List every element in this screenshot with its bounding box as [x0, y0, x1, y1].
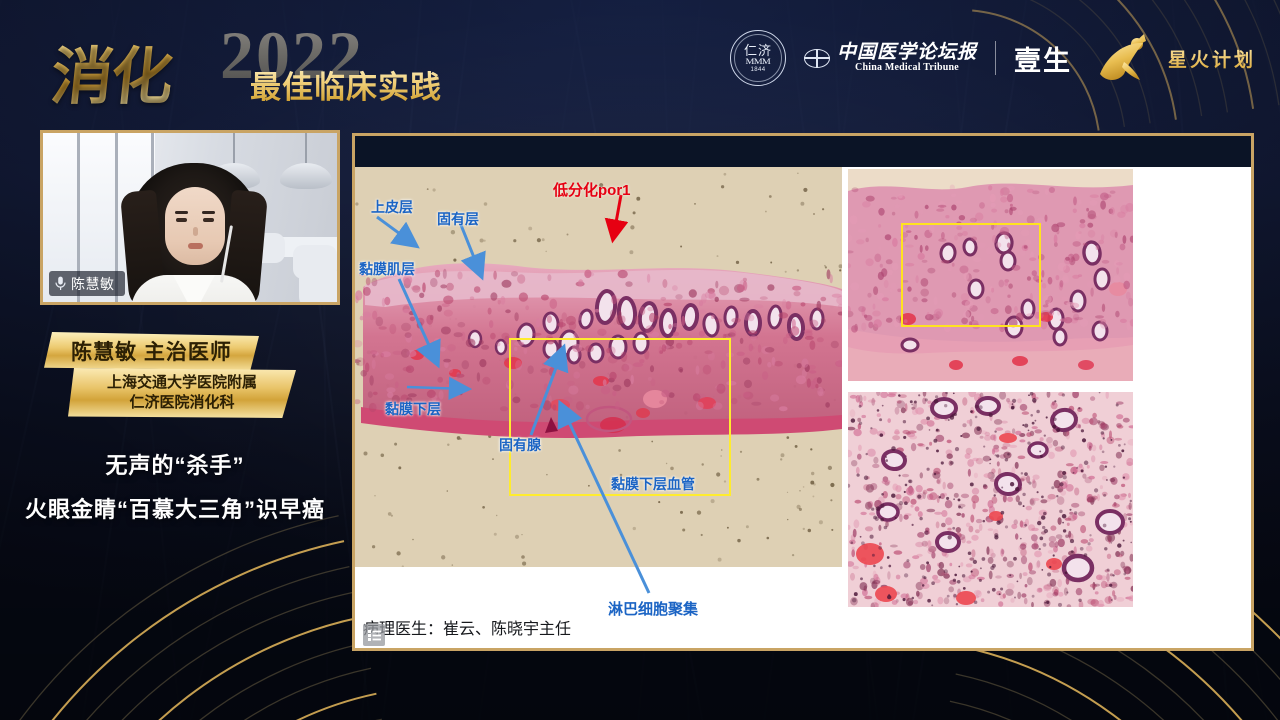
tissue-blob	[1099, 444, 1102, 450]
tissue-blob	[974, 473, 978, 479]
chair	[299, 269, 340, 305]
tissue-blob	[1100, 200, 1106, 209]
tissue-blob	[1032, 480, 1037, 488]
participant-video-tile[interactable]: 陈慧敏	[40, 130, 340, 305]
tissue-blob	[1027, 577, 1033, 585]
region-of-interest-box-upper-right	[901, 223, 1041, 327]
tissue-blob	[861, 415, 866, 418]
nucleus	[1073, 472, 1075, 474]
tissue-blob	[940, 493, 945, 499]
nucleus	[870, 427, 872, 429]
tissue-blob	[858, 445, 862, 451]
tissue-blob	[1065, 257, 1070, 261]
gland-structure	[995, 473, 1021, 495]
tissue-blob	[1054, 480, 1061, 488]
tissue-blob	[917, 443, 923, 446]
tissue-blob	[1005, 209, 1009, 213]
nucleus	[1087, 542, 1090, 545]
tissue-blob	[1091, 455, 1095, 462]
nucleus	[1130, 542, 1132, 544]
tissue-blob	[1033, 475, 1040, 480]
nucleus	[1046, 416, 1048, 418]
nucleus	[1032, 595, 1035, 598]
nucleus	[931, 604, 933, 606]
tissue-blob	[850, 282, 859, 290]
nucleus	[973, 560, 977, 564]
tissue-blob	[878, 525, 881, 531]
gland-structure	[1029, 443, 1047, 457]
nucleus	[946, 497, 949, 500]
tissue-blob	[1117, 425, 1123, 429]
tissue-blob	[1078, 199, 1082, 204]
nucleus	[877, 409, 880, 412]
tissue-blob	[1018, 546, 1021, 551]
nucleus	[951, 414, 954, 417]
tissue-blob	[1036, 562, 1040, 569]
nucleus	[1027, 441, 1030, 444]
tissue-blob	[1125, 577, 1131, 580]
tissue-blob	[1088, 210, 1096, 219]
tissue-blob	[1021, 593, 1026, 597]
tissue-blob	[899, 514, 903, 522]
tissue-blob	[1058, 263, 1067, 271]
tissue-blob	[1060, 280, 1064, 287]
nucleus	[924, 530, 929, 535]
tissue-blob	[1129, 502, 1132, 510]
tissue-blob	[987, 519, 992, 524]
tissue-blob	[976, 458, 983, 465]
tissue-blob	[892, 263, 899, 271]
nucleus	[1024, 472, 1028, 476]
nucleus	[927, 599, 931, 603]
nucleus	[989, 413, 993, 417]
tissue-blob	[861, 323, 866, 331]
nucleus	[875, 517, 879, 521]
tissue-blob	[951, 205, 956, 211]
tissue-blob	[1053, 592, 1059, 597]
tissue-blob	[959, 215, 965, 220]
tissue-blob	[1020, 404, 1028, 411]
nucleus	[905, 484, 908, 487]
tissue-blob	[890, 545, 898, 548]
tissue-blob	[927, 401, 931, 404]
tissue-blob	[995, 575, 1002, 578]
tissue-blob	[993, 434, 996, 441]
tissue-blob	[969, 557, 974, 560]
face	[165, 187, 225, 265]
event-title-main: 消化	[47, 26, 176, 116]
tissue-blob	[1003, 452, 1011, 459]
participant-name-text: 陈慧敏	[71, 274, 115, 294]
nucleus	[1084, 461, 1089, 466]
nucleus	[1036, 410, 1040, 414]
nucleus	[994, 430, 996, 432]
nucleus	[1028, 430, 1030, 432]
tissue-blob	[873, 571, 877, 579]
tissue-blob	[1120, 244, 1126, 251]
nucleus	[1063, 529, 1066, 532]
tissue-blob	[1116, 267, 1119, 274]
nucleus	[936, 429, 939, 432]
nucleus	[899, 475, 901, 477]
tissue-blob	[852, 547, 855, 551]
tissue-blob	[950, 185, 955, 191]
nucleus	[1046, 601, 1049, 604]
tissue-blob	[1057, 496, 1065, 505]
tissue-blob	[886, 318, 893, 323]
tissue-blob	[866, 238, 869, 243]
tissue-blob	[1120, 562, 1125, 568]
nucleus	[1001, 487, 1003, 489]
tissue-blob	[1088, 476, 1095, 480]
tissue-blob	[941, 510, 947, 517]
tissue-blob	[1108, 596, 1111, 603]
tissue-blob	[915, 211, 919, 219]
nucleus	[904, 491, 906, 493]
blood-vessel	[956, 591, 976, 605]
tissue-blob	[1116, 262, 1123, 265]
tissue-blob	[851, 460, 857, 466]
tissue-blob	[969, 526, 974, 533]
nucleus	[880, 433, 884, 437]
tissue-blob	[855, 500, 862, 504]
tissue-blob	[1053, 440, 1058, 447]
lamp-cord	[305, 133, 307, 165]
nucleus	[882, 405, 884, 407]
blood-vessel	[875, 586, 897, 602]
tissue-blob	[1015, 533, 1018, 539]
tissue-blob	[1065, 535, 1069, 538]
tissue-blob	[1028, 562, 1033, 571]
nucleus	[887, 556, 890, 559]
tissue-blob	[1026, 432, 1031, 437]
nucleus	[1037, 491, 1039, 493]
tissue-blob	[863, 396, 866, 401]
tissue-blob	[1031, 534, 1038, 541]
tissue-blob	[878, 247, 881, 251]
nucleus	[996, 454, 999, 457]
nucleus	[1062, 514, 1067, 519]
tissue-blob	[1016, 495, 1020, 502]
tissue-blob	[997, 461, 1000, 466]
annotation-submucosal-vessel: 黏膜下层血管	[611, 474, 695, 494]
nucleus	[870, 535, 874, 539]
nucleus	[954, 574, 957, 577]
nucleus	[992, 588, 996, 592]
tissue-blob	[994, 419, 1002, 425]
tissue-blob	[850, 409, 856, 417]
nucleus	[1116, 404, 1119, 407]
affiliation-line-1: 上海交通大学医院附属	[107, 373, 257, 393]
nucleus	[906, 559, 909, 562]
nucleus	[992, 564, 996, 568]
tissue-blob	[1033, 498, 1040, 501]
nucleus	[1071, 550, 1074, 553]
nucleus	[1109, 584, 1112, 587]
tissue-blob	[865, 315, 873, 321]
nucleus	[1123, 573, 1126, 576]
gland-structure	[882, 450, 906, 471]
participant-name-badge: 陈慧敏	[49, 271, 125, 296]
nucleus	[1130, 521, 1132, 523]
tissue-blob	[911, 443, 916, 451]
nucleus	[919, 517, 922, 520]
nucleus	[1111, 599, 1113, 601]
tissue-blob	[1121, 484, 1125, 487]
nucleus	[980, 567, 982, 569]
nucleus	[1094, 488, 1098, 492]
tissue-blob	[988, 185, 992, 190]
tissue-blob	[1049, 541, 1055, 547]
tissue-blob	[991, 209, 997, 213]
tissue-blob	[1064, 317, 1073, 323]
mouth	[188, 243, 203, 249]
tissue-blob	[894, 550, 903, 554]
nucleus	[888, 565, 891, 568]
nucleus	[1054, 400, 1056, 402]
tissue-blob	[902, 474, 909, 477]
slide-canvas: 上皮层 固有层 黏膜肌层 黏膜下层 固有腺 低分化por1 黏膜下层血管 淋巴细…	[355, 136, 1251, 648]
tissue-blob	[1102, 260, 1110, 264]
tissue-blob	[1086, 208, 1089, 212]
tissue-blob	[1061, 296, 1068, 300]
tissue-blob	[1110, 191, 1116, 194]
tissue-blob	[1049, 187, 1055, 193]
tissue-blob	[1087, 599, 1095, 605]
nucleus	[1105, 465, 1107, 467]
nucleus	[904, 501, 908, 505]
nucleus	[944, 404, 947, 407]
blood-vessel	[1046, 558, 1062, 570]
nucleus	[1043, 543, 1047, 547]
nucleus	[993, 494, 995, 496]
gland-structure	[1097, 511, 1123, 533]
tissue-blob	[939, 562, 945, 569]
list-menu-icon[interactable]	[363, 624, 385, 646]
tissue-blob	[1115, 311, 1119, 318]
tissue-blob	[1086, 546, 1093, 552]
nucleus	[904, 573, 908, 577]
tissue-blob	[1099, 319, 1106, 325]
tissue-blob	[887, 393, 895, 397]
tissue-blob	[938, 205, 947, 208]
tissue-blob	[856, 467, 860, 474]
annotation-lymphocyte-aggregation: 淋巴细胞聚集	[608, 598, 698, 619]
annotation-muscularis-mucosae: 黏膜肌层	[359, 259, 415, 279]
tissue-blob	[1106, 573, 1109, 582]
tissue-blob	[1123, 273, 1130, 282]
speaker-affiliation-badge: 上海交通大学医院附属 仁济医院消化科	[68, 368, 296, 418]
tissue-blob	[947, 453, 953, 459]
tissue-blob	[932, 471, 940, 479]
tissue-blob	[1089, 419, 1093, 425]
tissue-blob	[1081, 539, 1089, 544]
tissue-blob	[894, 431, 900, 435]
tissue-blob	[989, 571, 993, 580]
nucleus	[947, 595, 950, 598]
tissue-blob	[1027, 189, 1034, 193]
tissue-blob	[953, 217, 957, 220]
nose	[193, 227, 198, 236]
nucleus	[1021, 472, 1023, 474]
nucleus	[1013, 557, 1017, 561]
tissue-blob	[915, 506, 920, 511]
tissue-blob	[1057, 308, 1060, 316]
nucleus	[895, 517, 897, 519]
tissue-blob	[967, 459, 974, 467]
tissue-blob	[983, 456, 991, 462]
histology-image-lower-right	[846, 390, 1135, 609]
blood-vessel	[949, 360, 963, 370]
tissue-blob	[949, 563, 952, 567]
nucleus	[1053, 554, 1055, 556]
tissue-blob	[1009, 445, 1017, 448]
microphone-icon	[55, 276, 66, 291]
nucleus	[1082, 438, 1086, 442]
tissue-blob	[1114, 595, 1117, 600]
nucleus	[1078, 407, 1080, 409]
nucleus	[1118, 444, 1121, 447]
tissue-blob	[1047, 497, 1052, 501]
tissue-blob	[922, 541, 928, 547]
nucleus	[1038, 548, 1040, 550]
tissue-blob	[1049, 536, 1057, 542]
tissue-blob	[869, 512, 875, 515]
nucleus	[1014, 597, 1016, 599]
nucleus	[851, 541, 854, 544]
tissue-blob	[966, 563, 973, 567]
nucleus	[926, 416, 930, 420]
tissue-blob	[1045, 215, 1048, 222]
tissue-blob	[992, 448, 995, 455]
tissue-blob	[995, 427, 1003, 431]
nucleus	[1044, 529, 1048, 533]
tissue-blob	[1058, 517, 1062, 525]
tissue-blob	[936, 521, 940, 528]
tissue-blob	[976, 519, 982, 523]
tissue-blob	[1090, 396, 1095, 401]
tissue-blob	[943, 482, 946, 490]
tissue-blob	[1041, 270, 1044, 278]
tissue-blob	[1048, 277, 1053, 285]
tissue-blob	[903, 561, 910, 568]
nucleus	[970, 410, 973, 413]
tissue-blob	[979, 524, 983, 531]
nucleus	[1074, 511, 1077, 514]
slide-share-frame[interactable]: 上皮层 固有层 黏膜肌层 黏膜下层 固有腺 低分化por1 黏膜下层血管 淋巴细…	[352, 133, 1254, 651]
tissue-blob	[911, 505, 914, 508]
tissue-blob	[951, 194, 956, 198]
tissue-blob	[913, 600, 918, 604]
tissue-blob	[1056, 534, 1063, 539]
nucleus	[1018, 501, 1022, 505]
tissue-blob	[962, 423, 966, 427]
nucleus	[931, 581, 935, 585]
tissue-blob	[945, 500, 953, 508]
nucleus	[953, 579, 956, 582]
nucleus	[1103, 437, 1105, 439]
tissue-blob	[975, 529, 980, 533]
lamp-cord	[233, 133, 235, 165]
tissue-blob	[910, 499, 916, 505]
tissue-blob	[1005, 589, 1013, 596]
tissue-blob	[852, 187, 859, 192]
tissue-blob	[936, 479, 940, 484]
nucleus	[1024, 524, 1027, 527]
tissue-blob	[851, 549, 855, 557]
nucleus	[1062, 471, 1066, 475]
tissue-blob	[1100, 485, 1103, 489]
nucleus	[1063, 475, 1067, 479]
tissue-blob	[947, 483, 953, 490]
tissue-blob	[864, 596, 872, 599]
tissue-blob	[980, 436, 984, 439]
xinghuo-program-logo: 星火计划	[1096, 32, 1256, 84]
tissue-blob	[1043, 295, 1052, 304]
nucleus	[956, 603, 958, 605]
tissue-blob	[1000, 189, 1004, 197]
tissue-blob	[880, 264, 883, 268]
tissue-blob	[1096, 604, 1105, 607]
tissue-blob	[873, 304, 876, 310]
tissue-blob	[916, 485, 923, 492]
nucleus	[979, 405, 983, 409]
eyebrow-right	[202, 211, 215, 214]
tissue-blob	[1090, 194, 1099, 198]
speaker-name-badge: 陈慧敏 主治医师	[44, 332, 259, 370]
tissue-blob	[988, 528, 994, 531]
tissue-blob	[961, 494, 969, 499]
nucleus	[910, 400, 913, 403]
nucleus	[852, 598, 856, 602]
tissue-blob	[1110, 478, 1116, 482]
nucleus	[911, 404, 913, 406]
tissue-blob	[1058, 539, 1065, 548]
nucleus	[899, 501, 903, 505]
tissue-blob	[1025, 584, 1028, 587]
nucleus	[983, 520, 986, 523]
tissue-blob	[1052, 401, 1055, 405]
tissue-blob	[864, 585, 867, 591]
tissue-blob	[945, 215, 949, 218]
tissue-blob	[865, 502, 872, 510]
nucleus	[929, 429, 931, 431]
tissue-blob	[920, 472, 923, 478]
tissue-blob	[1094, 584, 1100, 587]
nucleus	[1044, 602, 1046, 604]
nucleus	[925, 398, 928, 401]
tissue-blob	[892, 435, 900, 440]
nucleus	[1039, 537, 1043, 541]
eye-left	[176, 218, 187, 222]
blood-vessel	[1078, 360, 1094, 370]
tissue-blob	[929, 442, 932, 446]
nucleus	[1017, 581, 1019, 583]
nucleus	[1061, 445, 1065, 449]
tissue-blob	[1021, 556, 1027, 565]
tissue-blob	[971, 535, 978, 541]
tissue-blob	[872, 464, 879, 468]
nucleus	[962, 574, 965, 577]
nucleus	[934, 399, 938, 403]
tissue-blob	[1070, 449, 1077, 457]
tissue-blob	[892, 600, 898, 605]
tissue-blob	[1006, 398, 1010, 402]
tissue-blob	[853, 566, 859, 569]
tissue-blob	[1078, 231, 1081, 234]
nucleus	[926, 447, 929, 450]
nucleus	[1101, 431, 1105, 435]
